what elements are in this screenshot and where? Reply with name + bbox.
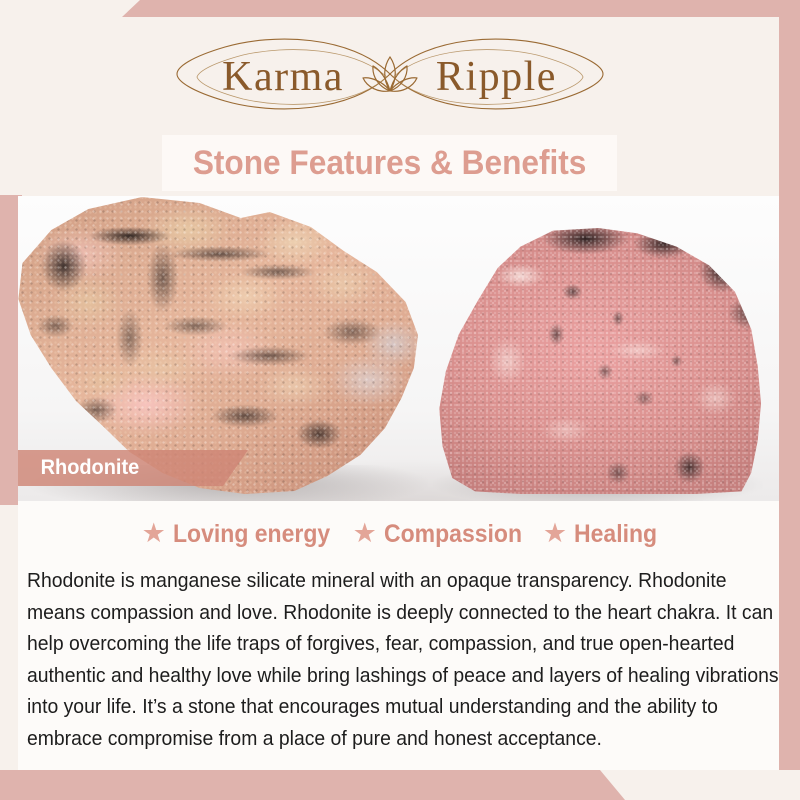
top-band-notch bbox=[0, 0, 145, 17]
lotus-icon bbox=[359, 52, 421, 98]
section-title-inner: Stone Features & Benefits bbox=[162, 135, 617, 191]
benefit-item-2: ★ Compassion bbox=[344, 520, 534, 549]
section-title-band: Stone Features & Benefits bbox=[0, 130, 779, 196]
benefits-row: ★ Loving energy ★ Compassion ★ Healing bbox=[18, 501, 779, 558]
star-icon: ★ bbox=[543, 520, 567, 547]
star-icon: ★ bbox=[142, 520, 166, 547]
star-icon: ★ bbox=[353, 520, 377, 547]
stone-description-text: Rhodonite is manganese silicate mineral … bbox=[27, 566, 786, 755]
brand-header: Karma Ripple bbox=[0, 17, 779, 132]
stone-name-badge: Rhodonite bbox=[18, 450, 248, 486]
benefit-label-2: Compassion bbox=[384, 520, 522, 549]
stone-description: Rhodonite is manganese silicate mineral … bbox=[27, 566, 786, 755]
brand-word-ripple: Ripple bbox=[436, 56, 557, 98]
stone-details: ★ Loving energy ★ Compassion ★ Healing R… bbox=[18, 501, 779, 770]
page-title: Stone Features & Benefits bbox=[193, 144, 587, 183]
benefit-item-1: ★ Loving energy bbox=[133, 520, 344, 549]
brand-logo: Karma Ripple bbox=[155, 27, 625, 122]
benefit-item-3: ★ Healing bbox=[534, 520, 665, 549]
stone-name-label: Rhodonite bbox=[41, 456, 140, 480]
benefit-label-1: Loving energy bbox=[173, 520, 330, 549]
product-info-card: Karma Ripple Stone Features & Benefits bbox=[0, 0, 800, 800]
benefit-label-3: Healing bbox=[574, 520, 657, 549]
brand-word-karma: Karma bbox=[222, 56, 344, 98]
bottom-band-notch bbox=[600, 770, 800, 800]
